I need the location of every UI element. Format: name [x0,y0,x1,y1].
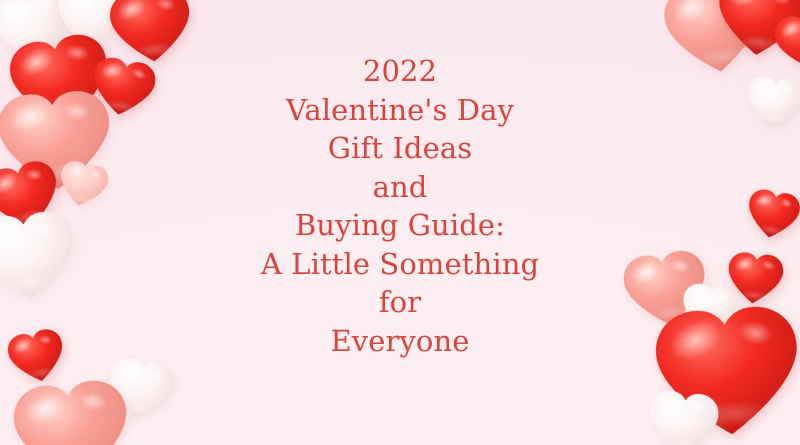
title-line: and [0,168,800,207]
heart-icon-pink-bl-1 [2,370,141,445]
title-line: Buying Guide: [0,206,800,245]
title-line: A Little Something [0,245,800,284]
title-line: Everyone [0,322,800,361]
heart-icon-white-br-1 [640,384,725,445]
title-line: 2022 [0,52,800,91]
title-line: Valentine's Day [0,91,800,130]
title-line: Gift Ideas [0,129,800,168]
valentines-poster: 2022Valentine's DayGift IdeasandBuying G… [0,0,800,445]
page-title: 2022Valentine's DayGift IdeasandBuying G… [0,52,800,360]
heart-icon-white-bl-1 [100,351,183,429]
title-line: for [0,283,800,322]
